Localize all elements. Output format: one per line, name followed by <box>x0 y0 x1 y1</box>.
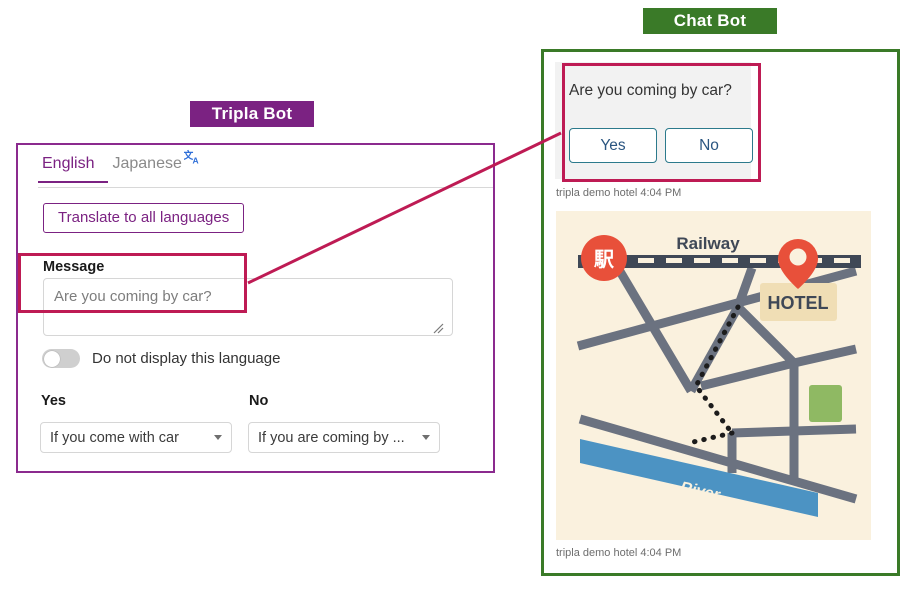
map-hotel-label: HOTEL <box>768 293 829 313</box>
chat-bot-badge: Chat Bot <box>643 8 777 34</box>
tab-japanese-label: Japanese <box>112 154 181 173</box>
yes-answer-select[interactable]: If you come with car <box>40 422 232 453</box>
tab-japanese[interactable]: Japanese 文 A <box>108 154 210 181</box>
chat-bot-panel: Are you coming by car? Yes No tripla dem… <box>541 49 900 576</box>
no-answer-value: If you are coming by ... <box>258 430 416 446</box>
tab-english[interactable]: English <box>38 154 108 183</box>
chevron-down-icon <box>422 435 430 440</box>
bot-message-text: Are you coming by car? <box>569 82 732 100</box>
message-timestamp-2: tripla demo hotel 4:04 PM <box>556 547 681 559</box>
tripla-bot-panel: English Japanese 文 A Translate to all la… <box>16 143 495 473</box>
tripla-bot-badge-label: Tripla Bot <box>212 104 292 124</box>
message-timestamp-1: tripla demo hotel 4:04 PM <box>556 187 681 199</box>
tripla-bot-badge: Tripla Bot <box>190 101 314 127</box>
tab-english-label: English <box>42 155 94 172</box>
svg-text:A: A <box>192 155 198 165</box>
toggle-knob <box>44 351 60 367</box>
no-answer-select[interactable]: If you are coming by ... <box>248 422 440 453</box>
yes-field-label: Yes <box>41 393 66 409</box>
map-station-label: 駅 <box>593 247 614 271</box>
map-railway-label: Railway <box>676 234 740 253</box>
chevron-down-icon <box>214 435 222 440</box>
message-input[interactable] <box>43 278 453 336</box>
map-image: River Railway HOTEL <box>556 211 871 540</box>
yes-answer-value: If you come with car <box>50 430 208 446</box>
message-label: Message <box>43 259 104 275</box>
bot-yes-button[interactable]: Yes <box>569 128 657 163</box>
do-not-display-language-toggle[interactable] <box>42 349 80 368</box>
do-not-display-language-label: Do not display this language <box>92 350 280 367</box>
translate-icon: 文 A <box>184 149 201 166</box>
chat-bot-badge-label: Chat Bot <box>674 11 746 31</box>
translate-all-languages-button[interactable]: Translate to all languages <box>43 203 244 233</box>
do-not-display-language-row: Do not display this language <box>42 349 280 368</box>
language-tabs: English Japanese 文 A <box>38 154 493 188</box>
no-field-label: No <box>249 393 268 409</box>
bot-message-bubble: Are you coming by car? Yes No <box>555 62 751 179</box>
bot-no-button[interactable]: No <box>665 128 753 163</box>
